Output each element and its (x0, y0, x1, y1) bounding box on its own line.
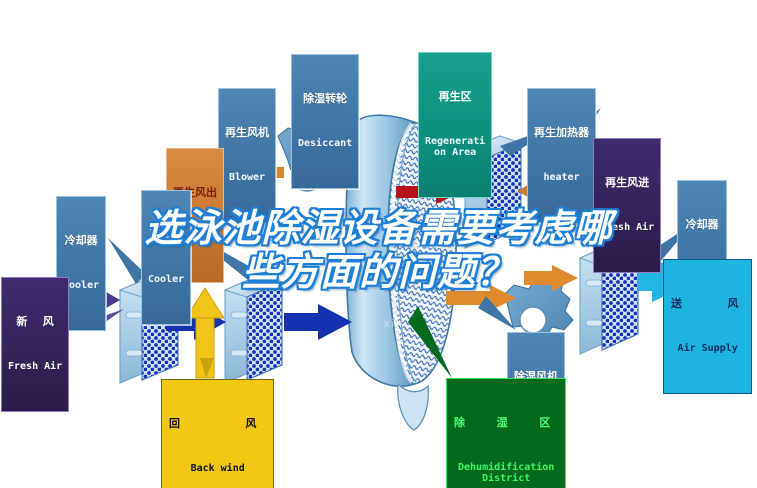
label-regen-fresh-air-cn: 再生风进 (600, 177, 654, 189)
label-dehumidification-district-en: Dehumidification District (454, 463, 558, 485)
label-regeneration-area[interactable]: 再生区 Regenerati on Area (418, 52, 492, 198)
label-fresh-air-inlet[interactable]: 新 风 Fresh Air (1, 277, 69, 412)
label-regeneration-area-cn: 再生区 (425, 91, 485, 103)
label-regeneration-heater-cn: 再生加热器 (534, 127, 589, 139)
headline-overlay: 选泳池除湿设备需要考虑哪 些方面的问题？ (0, 206, 757, 294)
label-regeneration-blower-cn: 再生风机 (225, 127, 269, 139)
label-air-supply-cn: 送 风 (671, 298, 744, 310)
headline-line-2: 些方面的问题？ (0, 250, 757, 294)
label-dehumidification-district-cn: 除 湿 区 (454, 417, 558, 429)
label-desiccant-wheel-cn: 除湿转轮 (298, 93, 352, 105)
label-fresh-air-inlet-en: Fresh Air (8, 362, 62, 373)
headline-line-1: 选泳池除湿设备需要考虑哪 (0, 206, 757, 250)
label-regeneration-heater-en: heater (534, 173, 589, 184)
label-fresh-air-inlet-cn: 新 风 (8, 316, 62, 328)
label-back-wind-cn: 回 风 (169, 418, 266, 430)
drum-watermark: xin (384, 318, 404, 330)
label-desiccant-wheel[interactable]: 除湿转轮 Desiccant (291, 54, 359, 189)
label-air-supply-en: Air Supply (671, 344, 744, 355)
label-back-wind[interactable]: 回 风 Back wind (161, 379, 274, 488)
dehumidifier-schematic-diagram: 除湿转轮 Desiccant 再生风机 Blower 再生风出 Exhaust … (0, 0, 757, 488)
label-desiccant-wheel-en: Desiccant (298, 139, 352, 150)
arrow-cooled-air-2 (284, 304, 352, 340)
label-regeneration-area-en: Regenerati on Area (425, 137, 485, 159)
label-back-wind-en: Back wind (169, 464, 266, 475)
label-regeneration-heater[interactable]: 再生加热器 heater (527, 88, 596, 223)
label-regeneration-blower[interactable]: 再生风机 Blower (218, 88, 276, 223)
label-regeneration-blower-en: Blower (225, 173, 269, 184)
label-dehumidification-district[interactable]: 除 湿 区 Dehumidification District (446, 378, 566, 488)
